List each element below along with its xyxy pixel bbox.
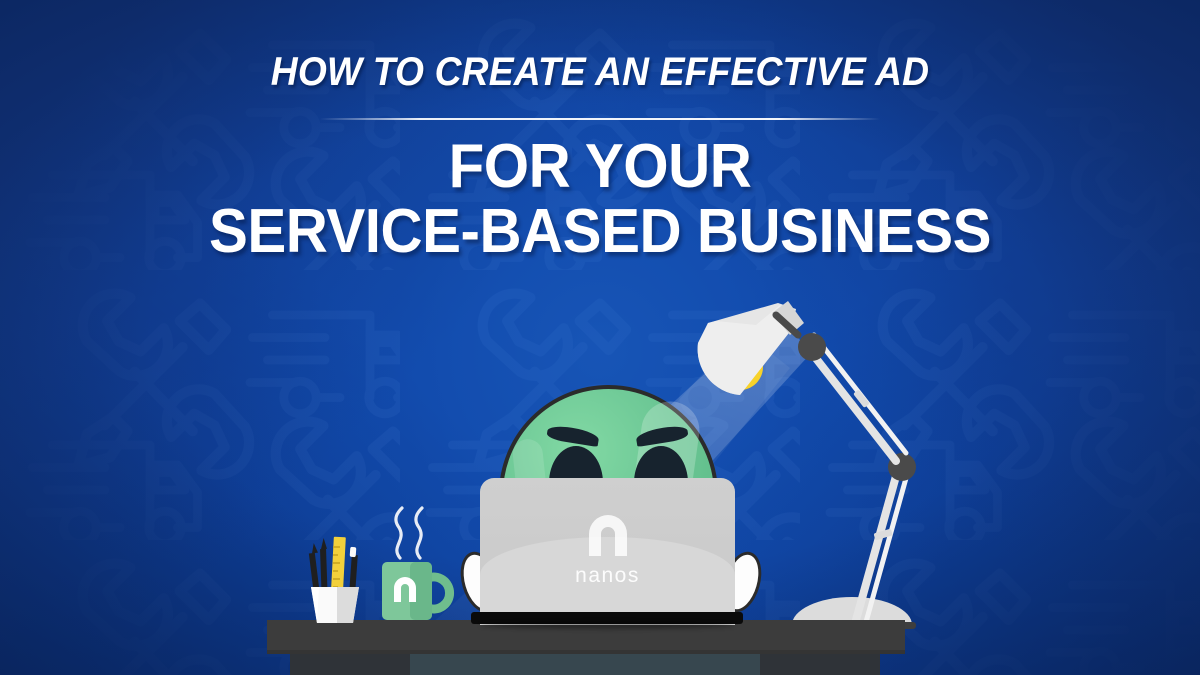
illustration-scene: nanos <box>0 0 1200 675</box>
eyebrow-left <box>546 424 600 447</box>
laptop-lid: nanos <box>480 478 735 625</box>
desk-edge <box>267 650 905 654</box>
desk-leg-left <box>290 653 410 675</box>
coffee-mug <box>368 500 468 628</box>
headline-eyebrow: HOW TO CREATE AN EFFECTIVE AD <box>42 52 1158 92</box>
lamp-lower-arm <box>856 469 908 622</box>
desk-backer <box>410 653 760 675</box>
headline-line-1: FOR YOUR <box>36 138 1164 196</box>
nanos-logo-icon <box>585 512 631 558</box>
headline-divider <box>320 118 880 120</box>
laptop-wordmark: nanos <box>480 564 735 588</box>
lamp-shade <box>698 301 820 417</box>
banner-canvas: HOW TO CREATE AN EFFECTIVE AD FOR YOUR S… <box>0 0 1200 675</box>
laptop-shadow <box>480 622 735 629</box>
headline-line-2: SERVICE-BASED BUSINESS <box>36 203 1164 261</box>
desk-leg-right <box>760 653 880 675</box>
mug-steam <box>396 508 422 558</box>
headline-main: FOR YOUR SERVICE-BASED BUSINESS <box>0 138 1200 262</box>
headline-block: HOW TO CREATE AN EFFECTIVE AD FOR YOUR S… <box>0 52 1200 92</box>
